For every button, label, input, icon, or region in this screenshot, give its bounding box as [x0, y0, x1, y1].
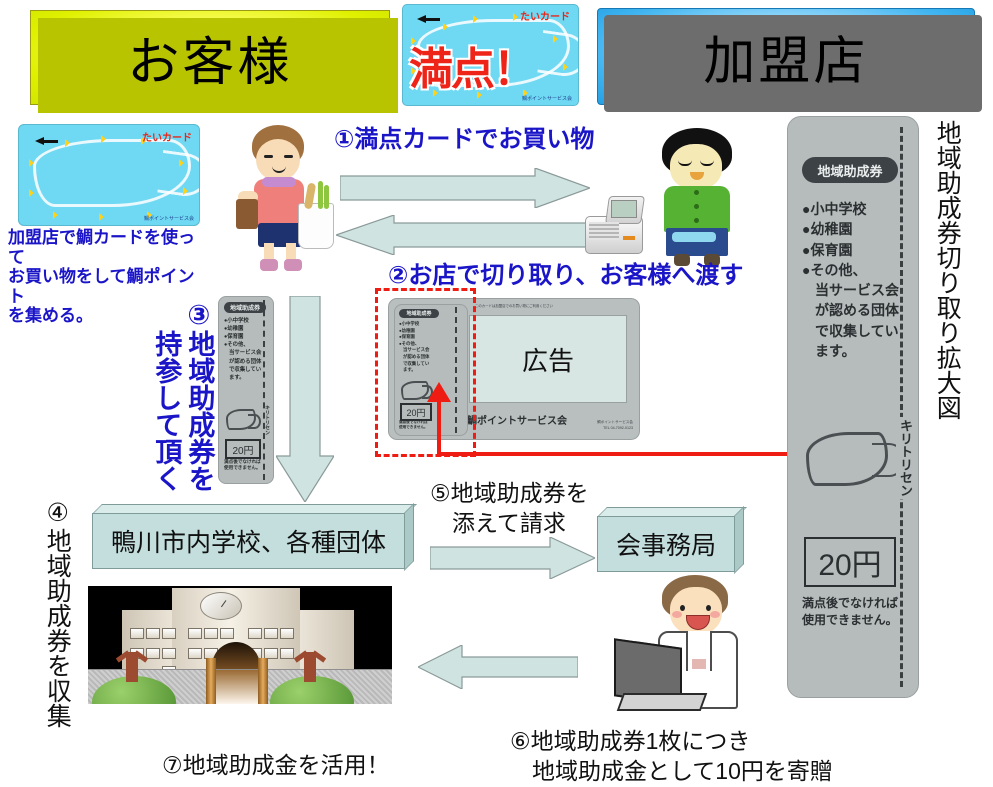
- card-fineprint: 鯛ポイントサービス会 TEL 04-7092-0123: [597, 420, 633, 431]
- enlarged-cut-dashes: [900, 127, 903, 687]
- triangle-mark: [183, 187, 188, 195]
- enlarged-ticket-amount: 20円: [804, 537, 896, 587]
- infographic-page: お客様 加盟店 たいカード 満点！ 鯛ポイントサービス会: [0, 0, 993, 787]
- school-illustration: [88, 586, 392, 704]
- card-service-label: 鯛ポイントサービス会: [522, 95, 572, 102]
- step3-number: ③: [185, 300, 213, 331]
- shop-clerk-illustration: [650, 128, 750, 268]
- gate-pillar-left: [206, 658, 216, 704]
- red-connector-vertical: [437, 398, 441, 454]
- step4-label: 地域助成券を収集: [44, 528, 70, 728]
- banner-customer: お客様: [30, 10, 390, 105]
- arrow-right-step1: [340, 168, 590, 208]
- enlarged-ticket-note: 満点後でなければ 使用できません。: [802, 595, 898, 629]
- shopper-illustration: [228, 125, 338, 275]
- ticket-cut-label: キリトリセン: [264, 405, 271, 435]
- triangle-mark: [99, 213, 104, 221]
- fish-icon: [33, 139, 190, 207]
- coupon-ticket-small: 地域助成券 ●小中学校 ●幼稚園 ●保育園 ●その他、 当サービス会 が認める団…: [218, 296, 274, 484]
- ticket-bullet: ●幼稚園: [224, 325, 261, 333]
- box-schools-side: [404, 503, 414, 571]
- step2-label: ②お店で切り取り、お客様へ渡す: [388, 262, 743, 290]
- ticket-bullet: ●保育園: [224, 333, 261, 341]
- ticket-note: 満点後でなければ 使用できません。: [224, 459, 261, 472]
- step5-line1: ⑤地域助成券を: [430, 480, 589, 508]
- step6-line1: ⑥地域助成券1枚につき: [510, 728, 750, 756]
- enlarged-bullet: ●その他、: [802, 260, 899, 280]
- arrow-left-icon: [35, 137, 44, 145]
- triangle-mark: [29, 189, 34, 197]
- enlarged-ticket-bullets: ●小中学校 ●幼稚園 ●保育園 ●その他、 当サービス会 が認める団体 で収集し…: [802, 199, 899, 361]
- banner-customer-label: お客様: [127, 20, 292, 95]
- triangle-mark: [65, 139, 70, 147]
- arrow-right-step5: [430, 537, 595, 579]
- ticket-amount: 20円: [225, 439, 261, 459]
- enlarged-bullet: ●保育園: [802, 240, 899, 260]
- enlarged-bullet-cont: が認める団体: [802, 300, 899, 320]
- card-service-name: 鯛ポイントサービス会: [467, 412, 567, 427]
- card-brand-label: たいカード: [520, 8, 570, 23]
- ticket-note-line2: 使用できません。: [224, 465, 261, 471]
- triangle-mark: [101, 135, 106, 143]
- arrow-down-step3: [276, 296, 334, 502]
- manten-label: 満点！: [409, 33, 535, 97]
- tai-card: たいカード 鯛ポイントサービス会: [18, 124, 200, 226]
- enlarged-cut-label: キリトリセン: [896, 417, 915, 499]
- ticket-bullet-cont: ます。: [224, 374, 261, 382]
- step3-line1: 地域助成券を: [185, 330, 213, 492]
- ticket-bullet: ●小中学校: [224, 317, 261, 325]
- left-caption: 加盟店で鯛カードを使って お買い物をして鯛ポイント を集める。: [8, 228, 208, 326]
- ad-panel: 広告: [469, 315, 627, 403]
- ticket-bullet-cont: 当サービス会: [224, 349, 261, 357]
- enlarged-bullet-cont: ます。: [802, 341, 899, 361]
- triangle-mark: [513, 13, 518, 21]
- enlarged-note-line1: 満点後でなければ: [802, 595, 898, 612]
- school-wing-right: [292, 610, 354, 674]
- step7-label: ⑦地域助成金を活用！: [162, 752, 390, 780]
- step3-line2: 持参して頂く: [152, 330, 180, 492]
- clock-icon: [200, 592, 242, 620]
- gate-pillar-right: [258, 658, 268, 704]
- enlarged-ticket-header: 地域助成券: [802, 157, 898, 183]
- step4-number: ④: [44, 498, 70, 527]
- ticket-bullet-cont: で収集してい: [224, 366, 261, 374]
- fish-icon: [806, 432, 888, 486]
- triangle-mark: [29, 159, 34, 167]
- arrow-left-step2: [336, 215, 591, 255]
- school-path: [210, 670, 262, 704]
- red-arrow-head: [427, 382, 451, 402]
- red-connector-horizontal: [437, 452, 787, 456]
- ticket-bullet: ●その他、: [224, 341, 261, 349]
- triangle-mark: [553, 35, 558, 43]
- highlight-dashed-box: [375, 288, 476, 457]
- triangle-mark: [179, 159, 184, 167]
- fish-icon: [226, 409, 256, 430]
- ticket-cut-dashes: [263, 300, 265, 480]
- triangle-mark: [563, 63, 568, 71]
- coupon-ticket-enlarged: 地域助成券 ●小中学校 ●幼稚園 ●保育園 ●その他、 当サービス会 が認める団…: [787, 116, 919, 698]
- enlarged-bullet: ●小中学校: [802, 199, 899, 219]
- box-office-side: [734, 506, 744, 574]
- enlarged-bullet: ●幼稚園: [802, 219, 899, 239]
- box-office-label: 会事務局: [597, 516, 735, 572]
- banner-shop-label: 加盟店: [703, 19, 868, 94]
- ticket-bullet-cont: が認める団体: [224, 358, 261, 366]
- triangle-mark: [473, 15, 478, 23]
- step5-line2: 添えて請求: [452, 510, 566, 538]
- enlarged-bullet-cont: 当サービス会: [802, 280, 899, 300]
- manten-card: たいカード 満点！ 鯛ポイントサービス会: [402, 4, 579, 106]
- step6-line2: 地域助成金として10円を寄贈: [532, 758, 833, 786]
- triangle-mark: [443, 23, 448, 31]
- step1-label: ①満点カードでお買い物: [334, 126, 594, 154]
- right-vertical-caption: 地域助成券切り取り拡大図: [934, 120, 960, 420]
- box-schools-label: 鴨川市内学校、各種団体: [92, 513, 405, 569]
- ticket-bullets: ●小中学校 ●幼稚園 ●保育園 ●その他、 当サービス会 が認める団体 で収集し…: [224, 317, 261, 382]
- banner-shop: 加盟店: [597, 8, 975, 105]
- enlarged-bullet-cont: で収集してい: [802, 321, 899, 341]
- box-schools: 鴨川市内学校、各種団体: [92, 513, 405, 569]
- office-staff-illustration: [600, 575, 760, 710]
- triangle-mark: [53, 211, 58, 219]
- card-brand-label: たいカード: [142, 129, 192, 144]
- arrow-left-step6: [418, 645, 578, 689]
- box-office: 会事務局: [597, 516, 735, 572]
- card-service-label: 鯛ポイントサービス会: [144, 215, 194, 222]
- pos-terminal-illustration: [585, 196, 647, 254]
- arrow-left-icon: [417, 15, 426, 23]
- ticket-header: 地域助成券: [224, 302, 266, 313]
- card-topprint: このカードは加盟店でのお買い物にご利用ください: [475, 303, 553, 308]
- enlarged-note-line2: 使用できません。: [802, 612, 898, 629]
